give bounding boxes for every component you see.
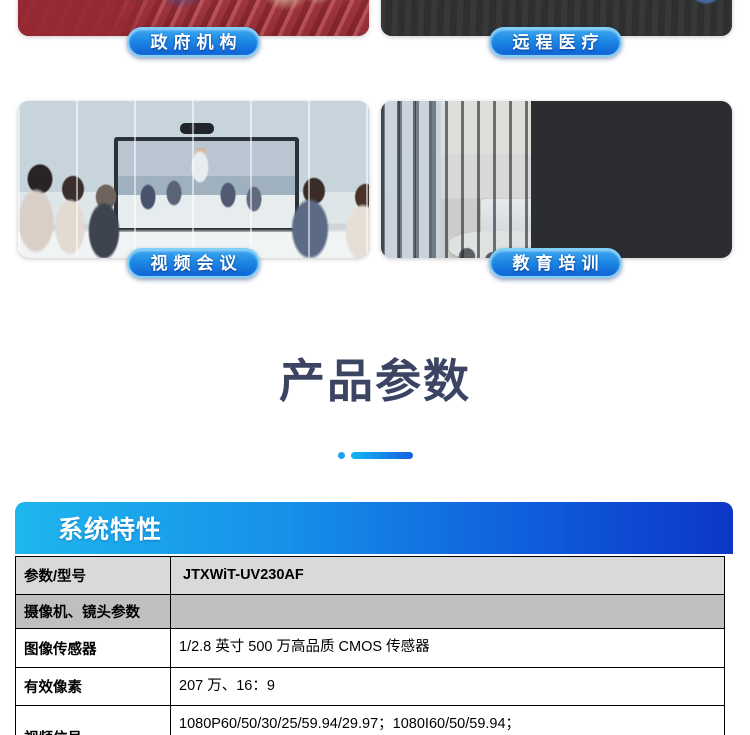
- spec-banner: 系统特性: [15, 502, 733, 554]
- classroom-camera-icon: [587, 133, 613, 142]
- scenario-badge-education[interactable]: 教育培训: [489, 248, 622, 278]
- table-row: 图像传感器 1/2.8 英寸 500 万高品质 CMOS 传感器: [16, 629, 725, 667]
- table-row: 有效像素 207 万、16：9: [16, 667, 725, 705]
- classroom-blackboard: [531, 145, 732, 225]
- decoration-dot-icon: [338, 452, 345, 459]
- video-signal-line-1: 1080P60/50/30/25/59.94/29.97；1080I60/50/…: [179, 712, 716, 735]
- decoration-bar-icon: [351, 452, 413, 459]
- spec-table: 参数/型号 JTXWiT-UV230AF 摄像机、镜头参数 图像传感器 1/2.…: [15, 556, 725, 735]
- spec-group-filler: [171, 595, 725, 629]
- classroom-window: [381, 101, 441, 258]
- spec-key-image-sensor: 图像传感器: [16, 629, 171, 667]
- scenario-label-education: 教育培训: [507, 255, 605, 272]
- conference-display: [114, 137, 299, 232]
- classroom-chairs: [381, 101, 732, 258]
- table-row: 参数/型号 JTXWiT-UV230AF: [16, 557, 725, 595]
- spec-value-image-sensor: 1/2.8 英寸 500 万高品质 CMOS 传感器: [171, 629, 725, 667]
- table-row: 视频信号 1080P60/50/30/25/59.94/29.97；1080I6…: [16, 706, 725, 735]
- table-row: 摄像机、镜头参数: [16, 595, 725, 629]
- classroom-training-photo: [381, 101, 732, 258]
- spec-group-camera-lens: 摄像机、镜头参数: [16, 595, 171, 629]
- conference-camera-icon: [180, 123, 214, 134]
- scenario-card-education[interactable]: [381, 101, 732, 258]
- spec-value-video-signal: 1080P60/50/30/25/59.94/29.97；1080I60/50/…: [171, 706, 725, 735]
- spec-banner-title: 系统特性: [58, 510, 162, 546]
- spec-key-video-signal: 视频信号: [16, 706, 171, 735]
- spec-value-model: JTXWiT-UV230AF: [171, 557, 725, 595]
- scenario-badge-government[interactable]: 政府机构: [127, 27, 260, 57]
- spec-key-model: 参数/型号: [16, 557, 171, 595]
- scenario-badge-telemedicine[interactable]: 远程医疗: [489, 27, 622, 57]
- scenario-card-video-conference[interactable]: [18, 101, 369, 258]
- product-detail-page: 政府机构 远程医疗 视频会议 教育培训 产品参数: [0, 0, 750, 735]
- scenario-label-government: 政府机构: [145, 34, 243, 51]
- classroom-desk: [611, 237, 729, 258]
- scenario-label-telemedicine: 远程医疗: [507, 34, 605, 51]
- classroom-podium: [481, 199, 553, 233]
- title-decoration: [0, 452, 750, 459]
- video-conference-photo: [18, 101, 369, 258]
- spec-value-effective-pixels: 207 万、16：9: [171, 667, 725, 705]
- spec-key-effective-pixels: 有效像素: [16, 667, 171, 705]
- spec-table-section: 系统特性 参数/型号 JTXWiT-UV230AF 摄像机、镜头参数 图像传感器…: [15, 502, 733, 735]
- scenario-badge-video-conference[interactable]: 视频会议: [127, 248, 260, 278]
- page-title: 产品参数: [0, 358, 750, 404]
- scenario-label-video-conference: 视频会议: [145, 255, 243, 272]
